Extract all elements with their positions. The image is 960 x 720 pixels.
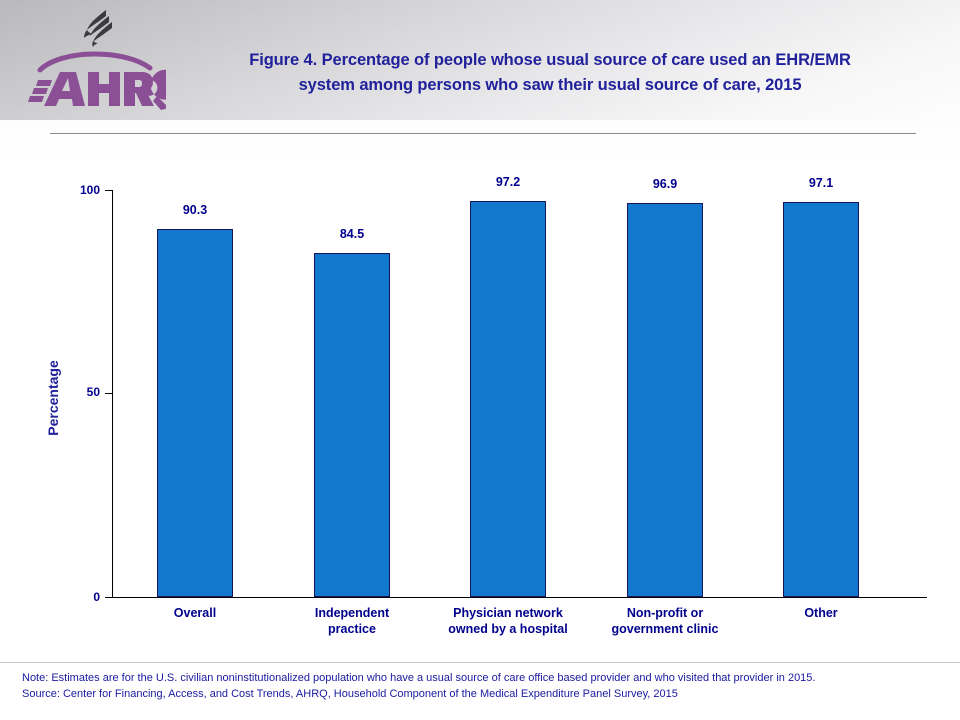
x-label-independent-practice-line2: practice — [272, 621, 432, 637]
y-tick-mark-50 — [105, 393, 112, 394]
bar-value-nonprofit-clinic: 96.9 — [610, 177, 720, 191]
y-axis-line — [112, 190, 113, 598]
y-tick-mark-0 — [105, 597, 112, 598]
x-axis-line — [112, 597, 927, 598]
x-label-other-line1: Other — [741, 605, 901, 621]
y-tick-label-100: 100 — [56, 183, 100, 197]
x-label-physician-network-line2: owned by a hospital — [428, 621, 588, 637]
x-label-nonprofit-clinic-line1: Non-profit or — [585, 605, 745, 621]
x-label-physician-network: Physician network owned by a hospital — [428, 605, 588, 637]
x-label-overall: Overall — [115, 605, 275, 621]
bar-value-other: 97.1 — [766, 176, 876, 190]
x-label-independent-practice: Independent practice — [272, 605, 432, 637]
x-label-overall-line1: Overall — [115, 605, 275, 621]
y-tick-label-0: 0 — [56, 590, 100, 604]
x-label-physician-network-line1: Physician network — [428, 605, 588, 621]
y-tick-mark-100 — [105, 190, 112, 191]
bar-other[interactable] — [783, 202, 859, 597]
bar-nonprofit-clinic[interactable] — [627, 203, 703, 597]
bar-value-physician-network: 97.2 — [453, 175, 563, 189]
x-label-nonprofit-clinic-line2: government clinic — [585, 621, 745, 637]
x-label-nonprofit-clinic: Non-profit or government clinic — [585, 605, 745, 637]
bar-physician-network[interactable] — [470, 201, 546, 597]
bar-value-independent-practice: 84.5 — [297, 227, 407, 241]
footnote-source: Source: Center for Financing, Access, an… — [22, 686, 942, 702]
footnote-block: Note: Estimates are for the U.S. civilia… — [22, 670, 942, 702]
bar-independent-practice[interactable] — [314, 253, 390, 597]
footer-divider — [0, 662, 960, 663]
x-label-other: Other — [741, 605, 901, 621]
y-tick-label-50: 50 — [56, 385, 100, 399]
bar-value-overall: 90.3 — [140, 203, 250, 217]
footnote-note: Note: Estimates are for the U.S. civilia… — [22, 670, 942, 686]
x-label-independent-practice-line1: Independent — [272, 605, 432, 621]
bar-overall[interactable] — [157, 229, 233, 597]
bar-chart: Percentage 100 50 0 90.3 84.5 97.2 96.9 … — [0, 0, 960, 660]
